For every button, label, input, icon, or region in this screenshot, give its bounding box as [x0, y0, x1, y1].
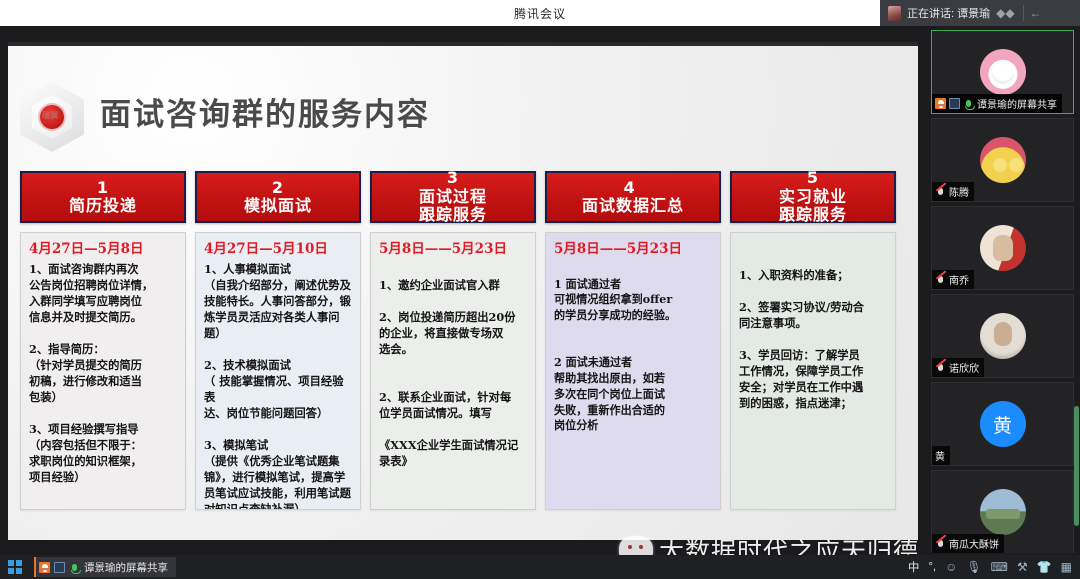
participant-name: 南乔 — [949, 272, 969, 287]
participant-tile-0[interactable]: 谭景瑜的屏幕共享 — [931, 30, 1074, 114]
content-column-1: 4月27日—5月8日 1、面试咨询群内再次 公告岗位招聘岗位详情， 入群同学填写… — [20, 232, 186, 510]
header-box-3: 3 面试过程 跟踪服务 — [370, 171, 536, 223]
avatar — [980, 49, 1026, 95]
header-5-line2: 跟踪服务 — [779, 206, 847, 224]
shirt-icon[interactable]: 👕 — [1037, 561, 1052, 573]
microphone-muted-icon — [935, 362, 946, 373]
header-3-line2: 跟踪服务 — [419, 206, 487, 224]
column-2-date: 4月27日—5月10日 — [204, 241, 352, 258]
keyboard-icon[interactable]: ⌨ — [991, 561, 1008, 573]
participant-status-bar: 黄 — [932, 446, 950, 465]
content-column-4: 5月8日——5月23日 1 面试通过者 可视情况组织拿到offer 的学员分享成… — [545, 232, 721, 510]
participant-name: 陈腾 — [949, 184, 969, 199]
slide-title: 面试咨询群的服务内容 — [100, 89, 430, 134]
presentation-slide: 瑞翼 面试咨询群的服务内容 1 简历投递 2 模拟面试 3 面试过程 跟踪 — [8, 42, 918, 540]
column-3-body: 1、邀约企业面试官入群 2、岗位投递简历超出20份 的企业，将直接做专场双 选会… — [379, 261, 527, 469]
column-3-date: 5月8日——5月23日 — [379, 241, 527, 258]
avatar: 黄 — [980, 401, 1026, 447]
participant-status-bar: 诺欣欣 — [932, 358, 984, 377]
header-3-line1: 3 面试过程 — [419, 169, 487, 206]
app-title: 腾讯会议 — [514, 5, 566, 22]
participant-name: 黄 — [935, 448, 945, 463]
header-2-line1: 2 模拟面试 — [244, 179, 312, 216]
microphone-icon — [69, 562, 80, 573]
microphone-muted-icon — [935, 274, 946, 285]
column-2-body: 1、人事模拟面试 （自我介绍部分，阐述优势及 技能特长。人事问答部分，锻 炼学员… — [204, 261, 352, 510]
avatar — [980, 137, 1026, 183]
screen-root: 腾讯会议 正在讲话: 谭景瑜 ◆◆ ← 瑞翼 面试咨询群的服务内容 1 简历投 — [0, 0, 1080, 579]
screen-share-icon — [54, 562, 65, 573]
microphone-icon[interactable]: 🎙 — [966, 561, 981, 573]
speaking-indicator: 正在讲话: 谭景瑜 ◆◆ ← — [880, 0, 1080, 26]
column-4-date: 5月8日——5月23日 — [554, 241, 712, 258]
participant-tile-2[interactable]: 南乔 — [931, 206, 1074, 290]
shared-screen-area: 瑞翼 面试咨询群的服务内容 1 简历投递 2 模拟面试 3 面试过程 跟踪 — [0, 26, 925, 555]
speaker-thumbnail-icon — [888, 6, 901, 21]
grid-apps-icon[interactable]: ▦ — [1061, 561, 1072, 573]
microphone-muted-icon — [935, 538, 946, 549]
double-chevron-icon[interactable]: ◆◆ — [996, 6, 1014, 20]
host-icon — [39, 562, 50, 573]
titlebar-divider — [1023, 5, 1024, 21]
participant-status-bar: 南瓜大酥饼 — [932, 534, 1004, 553]
microphone-muted-icon — [935, 186, 946, 197]
participant-status-bar: 陈腾 — [932, 182, 974, 201]
taskbar-task-meeting[interactable]: 谭景瑜的屏幕共享 — [34, 557, 176, 577]
host-icon — [935, 98, 946, 109]
participant-status-bar: 谭景瑜的屏幕共享 — [932, 94, 1062, 113]
participant-tile-4[interactable]: 黄 黄 — [931, 382, 1074, 466]
participant-name: 谭景瑜的屏幕共享 — [977, 96, 1057, 111]
header-4-line1: 4 面试数据汇总 — [582, 179, 684, 216]
content-column-5: 1、入职资料的准备； 2、签署实习协议/劳动合 同注意事项。 3、学员回访：了解… — [730, 232, 896, 510]
header-box-5: 5 实习就业 跟踪服务 — [730, 171, 896, 223]
rail-scrollbar[interactable] — [1074, 406, 1079, 526]
avatar — [980, 489, 1026, 535]
header-box-row: 1 简历投递 2 模拟面试 3 面试过程 跟踪服务 4 面试数 — [20, 171, 910, 223]
column-1-date: 4月27日—5月8日 — [29, 241, 177, 258]
ime-punctuation-icon[interactable]: °, — [928, 561, 936, 573]
screen-share-icon — [949, 98, 960, 109]
logo-wordmark: 瑞翼 — [42, 110, 59, 121]
avatar — [980, 225, 1026, 271]
emoji-icon[interactable]: ☺ — [945, 561, 957, 573]
toolbox-icon[interactable]: ⚒ — [1017, 561, 1028, 573]
taskbar-task-label: 谭景瑜的屏幕共享 — [84, 560, 168, 575]
participant-tile-1[interactable]: 陈腾 — [931, 118, 1074, 202]
header-box-2: 2 模拟面试 — [195, 171, 361, 223]
participant-status-bar: 南乔 — [932, 270, 974, 289]
content-column-row: 4月27日—5月8日 1、面试咨询群内再次 公告岗位招聘岗位详情， 入群同学填写… — [20, 232, 910, 510]
microphone-icon — [963, 98, 974, 109]
participant-rail[interactable]: 谭景瑜的屏幕共享 陈腾 南乔 诺欣欣 黄 — [925, 26, 1080, 553]
participant-tile-5[interactable]: 南瓜大酥饼 — [931, 470, 1074, 553]
column-4-body: 1 面试通过者 可视情况组织拿到offer 的学员分享成功的经验。 2 面试未通… — [554, 261, 712, 434]
header-box-1: 1 简历投递 — [20, 171, 186, 223]
avatar — [980, 313, 1026, 359]
column-1-body: 1、面试咨询群内再次 公告岗位招聘岗位详情， 入群同学填写应聘岗位 信息并及时提… — [29, 261, 177, 485]
column-5-body: 1、入职资料的准备； 2、签署实习协议/劳动合 同注意事项。 3、学员回访：了解… — [739, 241, 887, 411]
content-column-3: 5月8日——5月23日 1、邀约企业面试官入群 2、岗位投递简历超出20份 的企… — [370, 232, 536, 510]
header-box-4: 4 面试数据汇总 — [545, 171, 721, 223]
participant-tile-3[interactable]: 诺欣欣 — [931, 294, 1074, 378]
windows-start-icon[interactable] — [0, 555, 30, 579]
ime-chinese-icon[interactable]: 中 — [908, 559, 920, 575]
participant-name: 诺欣欣 — [949, 360, 979, 375]
header-5-line1: 5 实习就业 — [779, 169, 847, 206]
slide-top-strip — [8, 42, 918, 46]
meeting-titlebar: 腾讯会议 正在讲话: 谭景瑜 ◆◆ ← — [0, 0, 1080, 26]
system-tray: 中 °, ☺ 🎙 ⌨ ⚒ 👕 ▦ — [908, 559, 1080, 575]
back-arrow-icon[interactable]: ← — [1030, 6, 1042, 20]
speaking-label: 正在讲话: 谭景瑜 — [907, 5, 990, 21]
header-1-line1: 1 简历投递 — [69, 179, 137, 216]
windows-taskbar: 谭景瑜的屏幕共享 中 °, ☺ 🎙 ⌨ ⚒ 👕 ▦ — [0, 555, 1080, 579]
content-column-2: 4月27日—5月10日 1、人事模拟面试 （自我介绍部分，阐述优势及 技能特长。… — [195, 232, 361, 510]
participant-name: 南瓜大酥饼 — [949, 536, 999, 551]
